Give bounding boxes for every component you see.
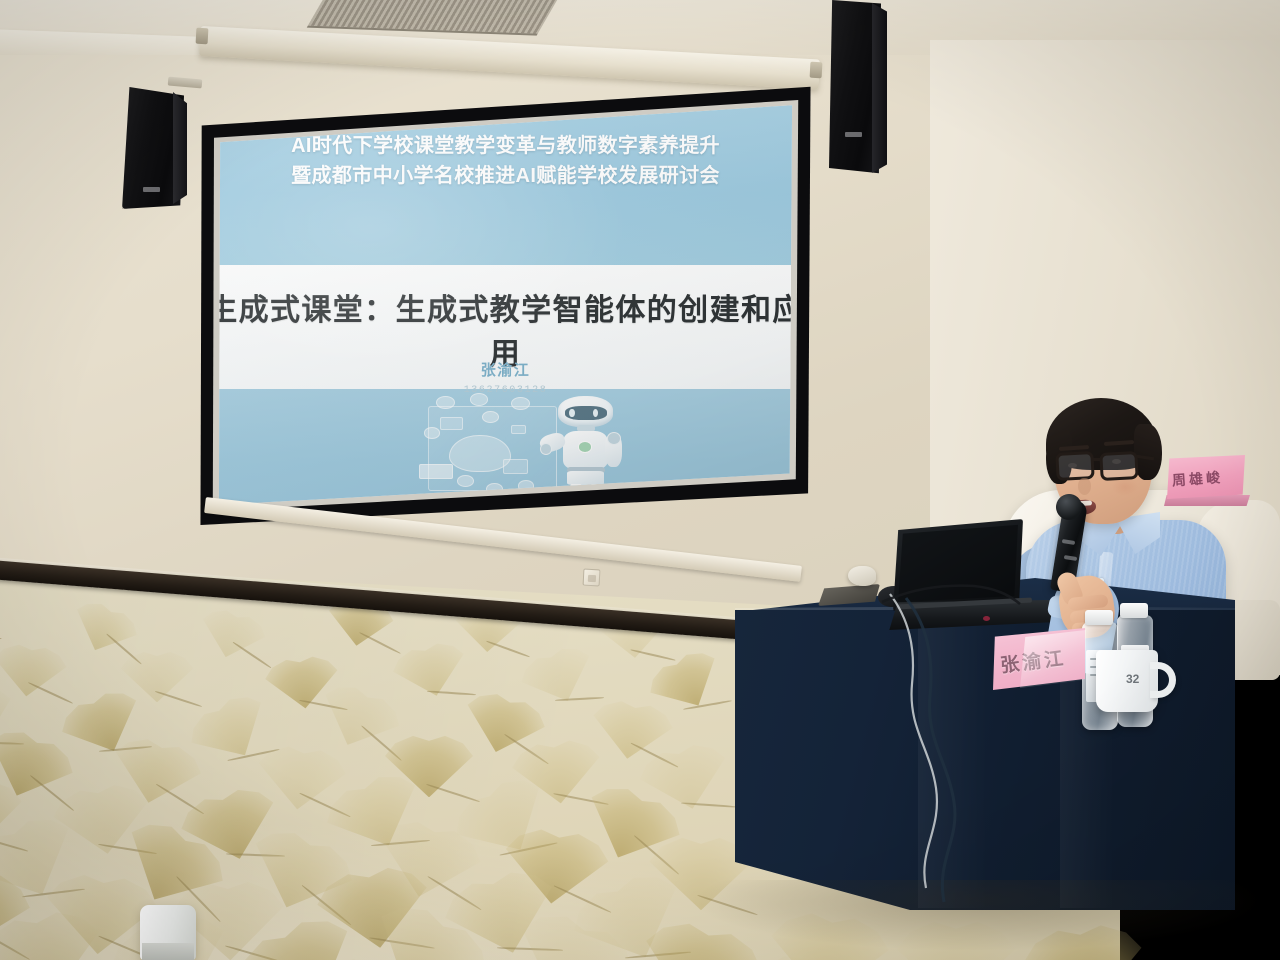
projection-screen-surface: AI时代下学校课堂教学变革与教师数字素养提升 暨成都市中小学名校推进AI赋能学校… <box>198 85 813 525</box>
tissue-object <box>848 566 876 586</box>
ai-icon-2 <box>470 393 489 406</box>
water-bottle-2-cap <box>1120 603 1148 618</box>
floor-bottle-band <box>142 943 194 960</box>
ai-icon-1 <box>436 396 455 409</box>
laptop-cable <box>876 576 1026 636</box>
water-bottle-1-cap <box>1085 610 1113 625</box>
ai-panel-icon-4 <box>419 464 452 479</box>
glasses-lens-left <box>1055 451 1094 481</box>
slide-header-text: AI时代下学校课堂教学变革与教师数字素养提升 暨成都市中小学名校推进AI赋能学校… <box>198 131 813 191</box>
speaker-badge-left <box>143 187 160 192</box>
ai-panel-icon-2 <box>511 425 526 434</box>
glasses-lens-right <box>1099 451 1138 481</box>
robot-elbow-joint <box>540 443 552 455</box>
slide-header-line-2: 暨成都市中小学名校推进AI赋能学校发展研讨会 <box>198 161 813 191</box>
robot-shoulder-joint <box>607 432 621 445</box>
slide-author-name: 张渝江 <box>198 359 813 380</box>
robot-chest-light-icon <box>578 441 592 453</box>
power-outlet-icon <box>583 569 601 587</box>
glasses-bridge <box>1093 458 1102 461</box>
speaker-badge-right <box>845 132 862 137</box>
robot-hip <box>567 471 604 485</box>
robot-eye-left <box>568 408 576 418</box>
presentation-slide: AI时代下学校课堂教学变革与教师数字素养提升 暨成都市中小学名校推进AI赋能学校… <box>198 85 813 525</box>
presenter-cheek <box>1112 478 1138 496</box>
robot-eye-right <box>592 408 600 418</box>
presentation-room-photo: AI时代下学校课堂教学变革与教师数字素养提升 暨成都市中小学名校推进AI赋能学校… <box>0 0 1280 960</box>
name-card-front-glare <box>1020 630 1086 688</box>
mug-number-label: 32 <box>1126 672 1139 686</box>
ai-icon-6 <box>457 475 474 487</box>
wall-speaker-right-side <box>872 3 887 173</box>
brain-icon <box>449 435 512 472</box>
screen-housing-cap-right <box>810 62 823 79</box>
presenter-nose <box>1078 478 1091 495</box>
ai-panel-icon-1 <box>440 417 463 430</box>
ai-panel-icon-3 <box>503 459 528 474</box>
screen-housing-cap-left <box>196 28 209 45</box>
wall-speaker-left-side <box>173 92 187 204</box>
